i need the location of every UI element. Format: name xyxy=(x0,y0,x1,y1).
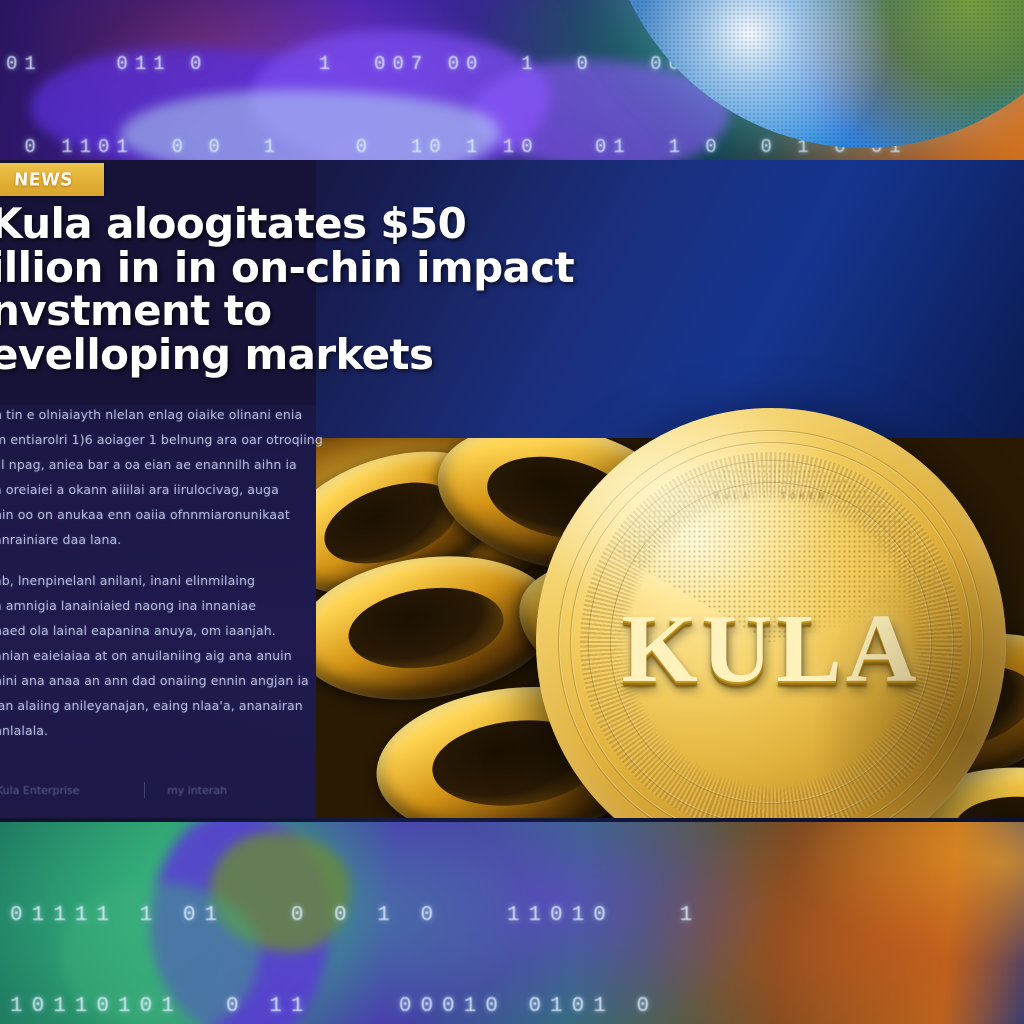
headline-line: illion in in on-chin impact xyxy=(0,246,550,290)
body-line: ab, lnenpinelanl anilani, inani elinmila… xyxy=(0,568,314,593)
news-badge: NEWS xyxy=(0,163,104,196)
news-card: · KULA · TOKEN · KULA NEWS Kula aloogita… xyxy=(0,160,1024,824)
body-line: anian eaieiaiaa at on anuilaniing aig an… xyxy=(0,643,314,668)
body-line: nnlalala. xyxy=(0,718,314,743)
footer-divider xyxy=(144,782,145,798)
body-paragraph: n tin e olniaiayth nlelan enlag oiaike o… xyxy=(0,402,314,552)
bottom-banner: 01111 1 01 0 0 1 0 11010 1 10110101 0 11… xyxy=(0,822,1024,1024)
coin-embossed-label: KULA xyxy=(536,600,1006,698)
footer-source-label: Kula Enterprise xyxy=(0,784,144,797)
headline-line: Kula aloogitates $50 xyxy=(0,202,550,246)
headline-line: nvstment to xyxy=(0,289,550,333)
headline: Kula aloogitates $50 illion in in on-chi… xyxy=(0,202,550,377)
body-line: anrainiare daa lana. xyxy=(0,527,314,552)
top-banner: 01 011 0 1 007 00 1 0 0058 030101 0 1101… xyxy=(0,0,1024,162)
card-footer: Kula Enterprise my interah xyxy=(0,782,316,798)
body-line: a amnigia lanainiaied naong ina innaniae xyxy=(0,593,314,618)
body-line: nin oo on anukaa enn oaiia ofnnmiaronuni… xyxy=(0,502,314,527)
body-line: a oreiaiei a okann aiiilai ara iirulociv… xyxy=(0,477,314,502)
body-line: naed ola lainal eapanina anuya, om iaanj… xyxy=(0,618,314,643)
body-line: n tin e olniaiayth nlelan enlag oiaike o… xyxy=(0,402,314,427)
body-line: m entiarolri 1)6 aoiager 1 belnung ara o… xyxy=(0,427,314,452)
headline-line: evelloping markets xyxy=(0,333,550,377)
body-line: ian alaiing anileyanajan, eaing nlaa'a, … xyxy=(0,693,314,718)
map-coastline-blob xyxy=(60,882,260,1024)
coin-micro-text: · KULA · TOKEN · xyxy=(696,492,847,502)
body-line: nini ana anaa an ann dad onaiing ennin a… xyxy=(0,668,314,693)
article-body-text: n tin e olniaiayth nlelan enlag oiaike o… xyxy=(0,402,314,759)
footer-date-label: my interah xyxy=(167,784,227,797)
body-line: iil npag, aniea bar a oa eian ae enannil… xyxy=(0,452,314,477)
body-paragraph: ab, lnenpinelanl anilani, inani elinmila… xyxy=(0,568,314,743)
news-badge-label: NEWS xyxy=(13,169,73,190)
news-thumbnail-image: 01 011 0 1 007 00 1 0 0058 030101 0 1101… xyxy=(0,0,1024,1024)
